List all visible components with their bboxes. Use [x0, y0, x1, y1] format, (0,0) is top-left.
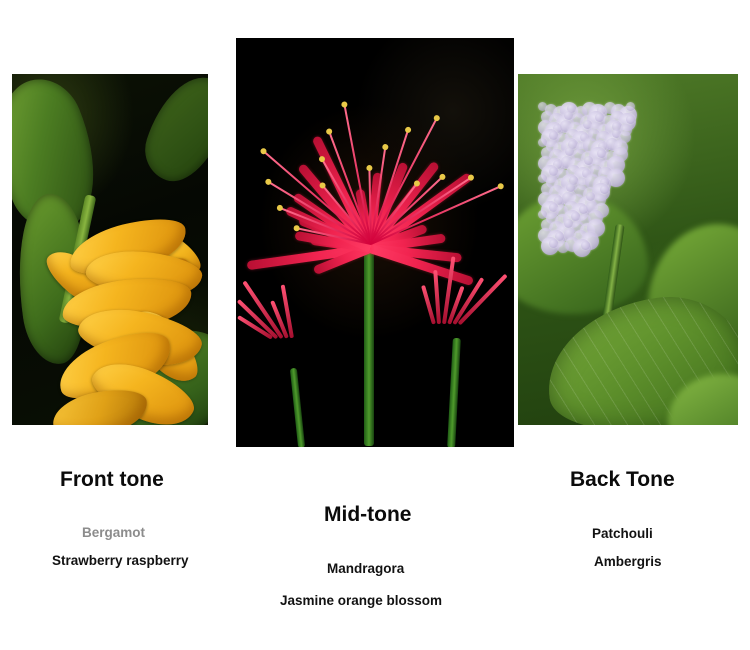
floret-shape: [626, 115, 635, 124]
back-tone-note-1: Patchouli: [592, 526, 653, 541]
front-tone-image: [12, 74, 208, 425]
mid-tone-image: [236, 38, 514, 447]
back-tone-image: [518, 74, 738, 425]
floret-shape: [581, 241, 590, 250]
mid-tone-title: Mid-tone: [324, 503, 411, 527]
back-tone-note-2: Ambergris: [594, 554, 662, 569]
fragrance-notes-infographic: Front tone Mid-tone Back Tone Bergamot S…: [0, 0, 750, 650]
mint-flower-spike: [524, 102, 714, 252]
front-tone-note-2: Strawberry raspberry: [52, 553, 189, 568]
floret-shape: [626, 102, 635, 111]
front-tone-title: Front tone: [60, 468, 164, 492]
stem-shape: [364, 246, 374, 446]
mid-tone-note-2: Jasmine orange blossom: [280, 593, 442, 608]
mid-tone-note-1: Mandragora: [327, 561, 404, 576]
front-tone-note-1: Bergamot: [82, 525, 145, 540]
back-tone-title: Back Tone: [570, 468, 675, 492]
